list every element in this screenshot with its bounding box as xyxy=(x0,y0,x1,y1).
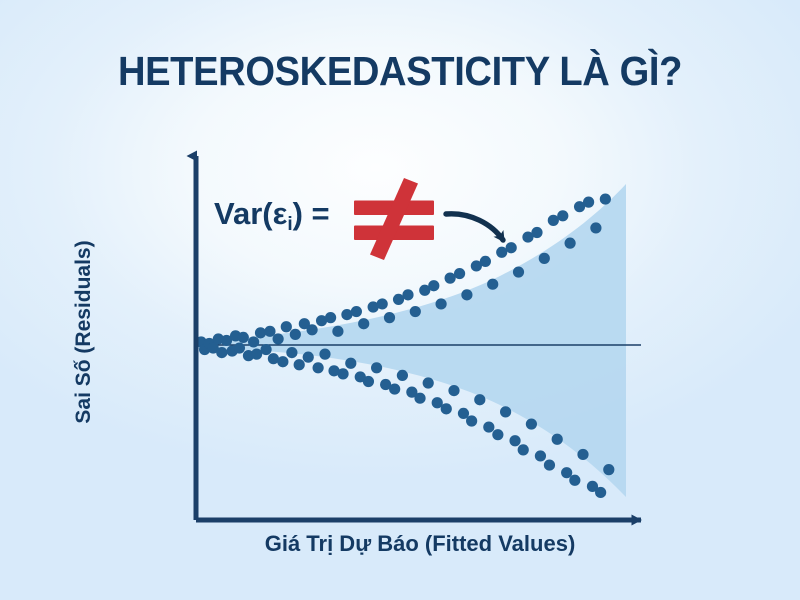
scatter-point xyxy=(487,279,498,290)
scatter-point xyxy=(466,415,477,426)
scatter-point xyxy=(423,377,434,388)
scatter-point xyxy=(389,383,400,394)
scatter-point xyxy=(535,450,546,461)
not-equal-icon xyxy=(352,178,438,260)
scatter-point xyxy=(384,312,395,323)
scatter-point xyxy=(377,298,388,309)
scatter-point xyxy=(273,333,284,344)
scatter-point xyxy=(583,197,594,208)
scatter-point xyxy=(260,344,271,355)
scatter-point xyxy=(461,289,472,300)
scatter-point xyxy=(500,406,511,417)
scatter-point xyxy=(600,193,611,204)
scatter-point xyxy=(483,421,494,432)
y-axis-label: Sai Số (Residuals) xyxy=(72,182,96,482)
scatter-point xyxy=(303,352,314,363)
scatter-point xyxy=(268,353,279,364)
scatter-point xyxy=(371,362,382,373)
scatter-point xyxy=(526,418,537,429)
scatter-point xyxy=(448,385,459,396)
scatter-point xyxy=(341,309,352,320)
epsilon-symbol: ε xyxy=(273,196,288,231)
scatter-point xyxy=(544,459,555,470)
scatter-point xyxy=(492,429,503,440)
scatter-point xyxy=(332,326,343,337)
scatter-point xyxy=(458,408,469,419)
scatter-point xyxy=(590,222,601,233)
scatter-point xyxy=(313,362,324,373)
formula-prefix: Var( xyxy=(214,196,273,231)
scatter-point xyxy=(345,358,356,369)
scatter-point xyxy=(552,434,563,445)
scatter-point xyxy=(428,280,439,291)
scatter-point xyxy=(281,321,292,332)
scatter-point xyxy=(286,347,297,358)
scatter-point xyxy=(603,464,614,475)
scatter-point xyxy=(565,238,576,249)
scatter-point xyxy=(358,318,369,329)
scatter-point xyxy=(595,487,606,498)
scatter-point xyxy=(216,347,227,358)
scatter-chart xyxy=(0,0,800,600)
slide-canvas: HETEROSKEDASTICITY LÀ GÌ? Sai Số (Residu… xyxy=(0,0,800,600)
scatter-point xyxy=(277,356,288,367)
variance-formula-annotation: Var(εi) = xyxy=(214,196,330,236)
scatter-point xyxy=(363,376,374,387)
scatter-point xyxy=(531,227,542,238)
scatter-point xyxy=(480,256,491,267)
scatter-point xyxy=(307,324,318,335)
scatter-point xyxy=(264,326,275,337)
scatter-point xyxy=(557,210,568,221)
scatter-point xyxy=(569,475,580,486)
scatter-point xyxy=(509,435,520,446)
scatter-point xyxy=(319,349,330,360)
scatter-point xyxy=(337,368,348,379)
scatter-point xyxy=(577,449,588,460)
scatter-point xyxy=(441,403,452,414)
scatter-point xyxy=(294,359,305,370)
scatter-point xyxy=(561,467,572,478)
scatter-point xyxy=(234,342,245,353)
scatter-point xyxy=(402,289,413,300)
formula-suffix: ) = xyxy=(293,196,330,231)
curved-pointer-arrow xyxy=(446,214,503,240)
scatter-point xyxy=(454,268,465,279)
scatter-point xyxy=(325,312,336,323)
scatter-point xyxy=(248,336,259,347)
scatter-point xyxy=(397,370,408,381)
scatter-point xyxy=(290,329,301,340)
scatter-point xyxy=(513,266,524,277)
scatter-point xyxy=(238,332,249,343)
scatter-point xyxy=(414,393,425,404)
scatter-point xyxy=(518,444,529,455)
scatter-point xyxy=(506,242,517,253)
scatter-point xyxy=(436,298,447,309)
scatter-point xyxy=(351,306,362,317)
scatter-point xyxy=(255,327,266,338)
x-axis-label: Giá Trị Dự Báo (Fitted Values) xyxy=(120,531,720,557)
scatter-point xyxy=(410,306,421,317)
scatter-point xyxy=(539,253,550,264)
scatter-point xyxy=(474,394,485,405)
